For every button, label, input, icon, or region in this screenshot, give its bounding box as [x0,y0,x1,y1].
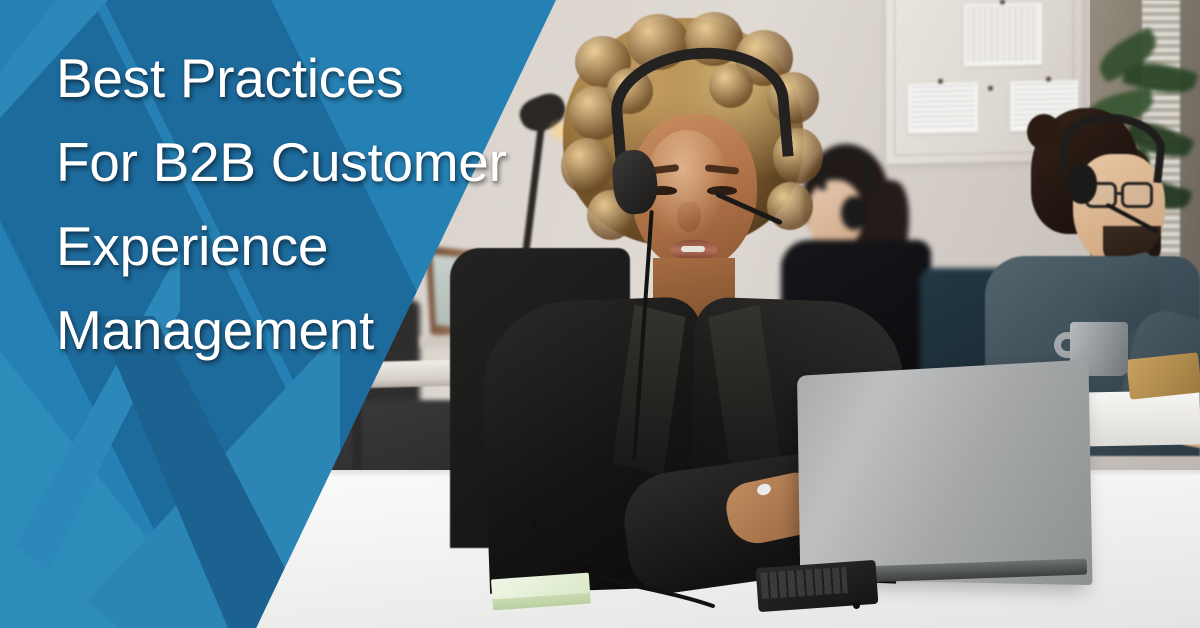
silver-laptop [757,368,1087,598]
pinned-paper [908,82,978,133]
headset-earcup [1067,164,1097,204]
title-line-2: For B2B Customer [56,120,556,204]
laptop-lid [797,359,1092,585]
blog-header-banner: Best Practices For B2B Customer Experien… [0,0,1200,628]
notebook [1126,352,1200,399]
page-title: Best Practices For B2B Customer Experien… [56,36,556,372]
glasses-icon [1121,182,1153,208]
pinned-paper [964,3,1042,67]
sticky-note-pad [491,573,591,613]
title-line-3: Experience [56,204,556,288]
title-line-4: Management [56,288,556,372]
title-line-1: Best Practices [56,36,556,120]
